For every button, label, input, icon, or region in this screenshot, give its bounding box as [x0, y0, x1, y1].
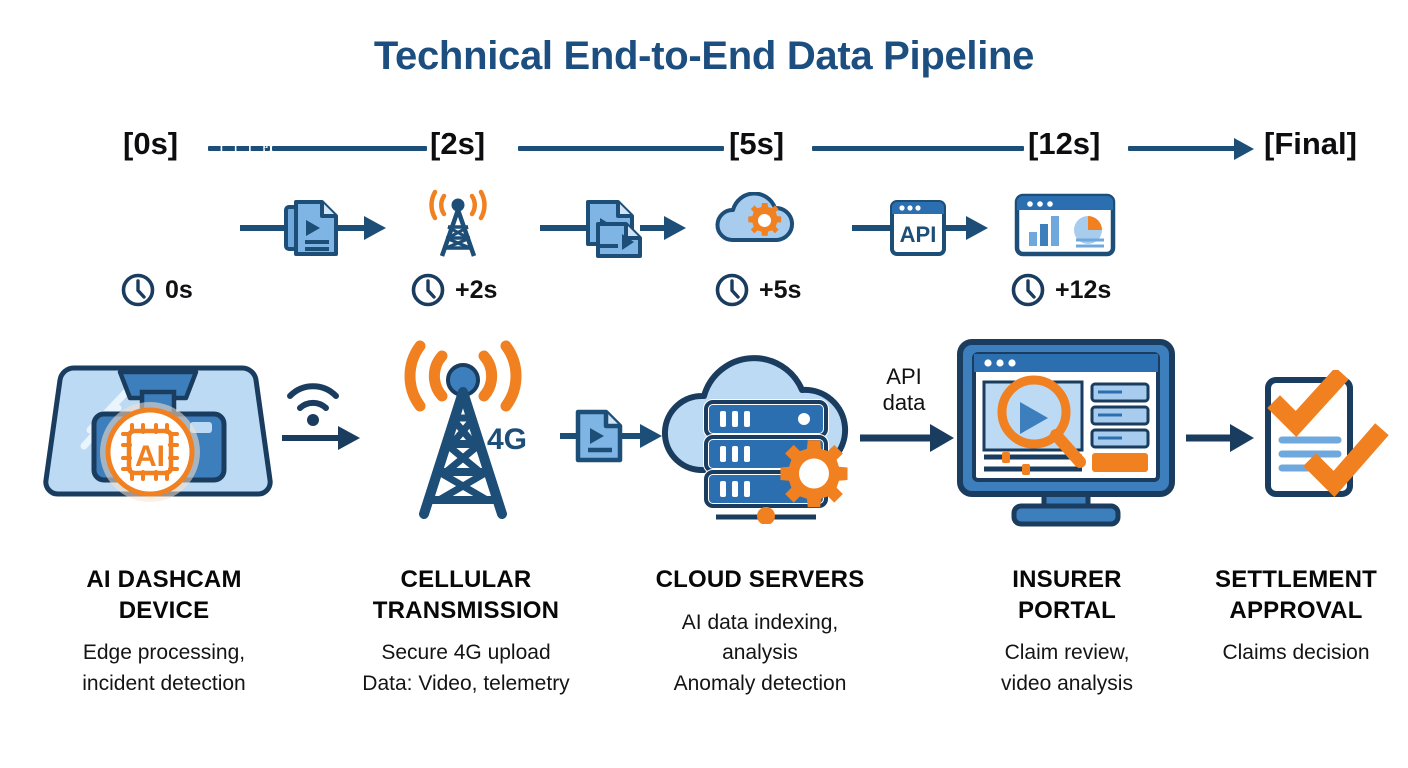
caption-sub-0: AI data indexing,: [620, 608, 900, 638]
caption-sub-1: incident detection: [14, 669, 314, 699]
timeline-connector-dashed: [208, 146, 270, 151]
clock-label-0: 0s: [165, 276, 193, 305]
video-file-transfer-icon: [240, 190, 390, 265]
api-data-label: API data: [862, 364, 946, 417]
caption-title-line2: APPROVAL: [1184, 596, 1408, 627]
network-4g-label: 4G: [487, 423, 527, 457]
timeline-mark-final: [Final]: [1264, 126, 1357, 162]
timeline-connector-1: [272, 146, 427, 151]
clock-marker-1: +2s: [410, 272, 497, 308]
caption-sub-0: Claim review,: [952, 638, 1182, 668]
timeline-connector-3: [812, 146, 1024, 151]
clock-icon: [714, 272, 750, 308]
dashboard-chart-icon: [1014, 192, 1118, 263]
page-title: Technical End-to-End Data Pipeline: [0, 34, 1408, 79]
caption-sub-1: video analysis: [952, 669, 1182, 699]
caption-title-line2: TRANSMISSION: [316, 596, 616, 627]
caption-settlement: SETTLEMENT APPROVAL Claims decision: [1184, 565, 1408, 669]
ai-dashcam-icon: AI: [32, 352, 284, 515]
caption-insurer-portal: INSURER PORTAL Claim review, video analy…: [952, 565, 1182, 699]
clock-icon: [1010, 272, 1046, 308]
clock-label-1: +2s: [455, 276, 497, 305]
clock-marker-2: +5s: [714, 272, 801, 308]
cloud-gear-icon: [710, 192, 808, 261]
api-data-arrow-icon: [860, 420, 956, 461]
timeline-connector-4: [1128, 146, 1236, 151]
caption-ai-dashcam: AI DASHCAM DEVICE Edge processing, incid…: [14, 565, 314, 699]
caption-cloud-servers: CLOUD SERVERS AI data indexing, analysis…: [620, 565, 900, 699]
caption-title-line1: CELLULAR: [316, 565, 616, 596]
video-file-stack-icon: [540, 190, 690, 265]
caption-sub-2: Anomaly detection: [620, 669, 900, 699]
caption-title-line1: CLOUD SERVERS: [620, 565, 900, 596]
caption-sub-0: Edge processing,: [14, 638, 314, 668]
ai-badge-label: AI: [135, 440, 165, 473]
settlement-arrow-icon: [1186, 420, 1256, 461]
timeline-mark-12s: [12s]: [1028, 126, 1100, 162]
api-data-line2: data: [862, 390, 946, 416]
api-window-icon: API: [852, 190, 992, 265]
caption-sub-1: analysis: [620, 638, 900, 668]
caption-sub-0: Claims decision: [1184, 638, 1408, 668]
settlement-approval-icon: [1250, 370, 1394, 517]
cloud-servers-icon: [654, 344, 866, 529]
caption-sub-0: Secure 4G upload: [316, 638, 616, 668]
caption-title-line2: PORTAL: [952, 596, 1182, 627]
clock-icon: [120, 272, 156, 308]
cell-tower-icon: [418, 186, 498, 265]
caption-sub-1: Data: Video, telemetry: [316, 669, 616, 699]
timeline-mark-5s: [5s]: [729, 126, 784, 162]
clock-label-3: +12s: [1055, 276, 1111, 305]
caption-cellular: CELLULAR TRANSMISSION Secure 4G upload D…: [316, 565, 616, 699]
caption-title-line1: INSURER: [952, 565, 1182, 596]
diagram-canvas: Technical End-to-End Data Pipeline [0s] …: [0, 0, 1408, 768]
timeline-arrow-icon: [1234, 138, 1254, 160]
api-window-label: API: [900, 222, 937, 247]
caption-title-line1: SETTLEMENT: [1184, 565, 1408, 596]
clock-marker-0: 0s: [120, 272, 193, 308]
clock-label-2: +5s: [759, 276, 801, 305]
timeline: [0s] [2s] [5s] [12s] [Final]: [0, 126, 1408, 176]
insurer-portal-monitor-icon: [946, 336, 1186, 537]
timeline-mark-2s: [2s]: [430, 126, 485, 162]
caption-title-line2: DEVICE: [14, 596, 314, 627]
clock-icon: [410, 272, 446, 308]
timeline-mark-0s: [0s]: [123, 126, 178, 162]
clock-marker-3: +12s: [1010, 272, 1111, 308]
wifi-transfer-icon: [280, 372, 372, 457]
timeline-connector-2: [518, 146, 724, 151]
caption-title-line1: AI DASHCAM: [14, 565, 314, 596]
api-data-line1: API: [862, 364, 946, 390]
